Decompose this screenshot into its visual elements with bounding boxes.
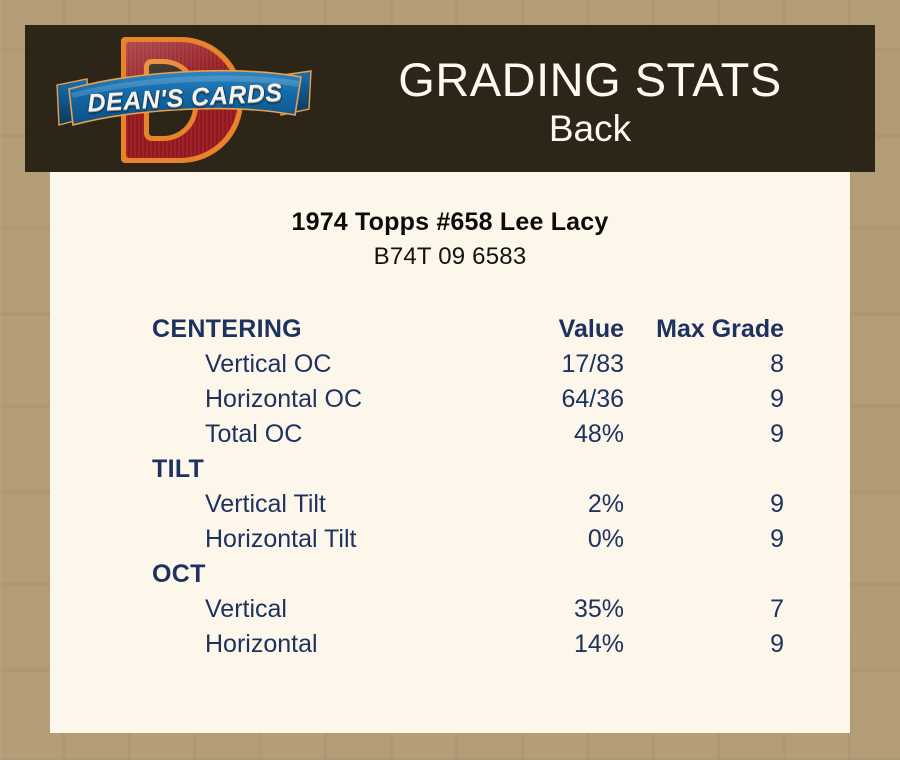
content-panel: 1974 Topps #658 Lee Lacy B74T 09 6583 CE… <box>50 172 850 733</box>
stats-section-header-row: TILT <box>152 452 812 487</box>
stats-row-max-grade: 9 <box>642 522 784 557</box>
logo-ribbon-icon: DEAN'S CARDS <box>55 67 315 129</box>
stats-data-row: Vertical Tilt2%9 <box>152 487 812 522</box>
stats-data-row: Total OC48%9 <box>152 417 812 452</box>
stats-data-row: Vertical35%7 <box>152 592 812 627</box>
page-title: GRADING STATS <box>325 56 855 103</box>
stats-row-label: Vertical <box>152 592 535 627</box>
stats-section-header-row: CENTERINGValueMax Grade <box>152 312 812 347</box>
grading-stats-page: DEAN'S CARDS GRADING STATS Back 1974 Top… <box>0 0 900 760</box>
stats-row-label: Horizontal OC <box>152 382 535 417</box>
stats-section-label: TILT <box>152 452 482 487</box>
stats-row-max-grade: 9 <box>642 487 784 522</box>
stats-row-max-grade: 9 <box>642 627 784 662</box>
stats-row-value: 35% <box>482 592 624 627</box>
stats-data-row: Horizontal OC64/369 <box>152 382 812 417</box>
stats-row-value: 2% <box>482 487 624 522</box>
stats-row-max-grade: 9 <box>642 382 784 417</box>
stats-row-label: Vertical Tilt <box>152 487 535 522</box>
stats-row-value: 64/36 <box>482 382 624 417</box>
stats-column-header-value: Value <box>482 312 624 347</box>
stats-section-label: CENTERING <box>152 312 482 347</box>
stats-data-row: Horizontal Tilt0%9 <box>152 522 812 557</box>
stats-section-label: OCT <box>152 557 482 592</box>
grading-stats-table: CENTERINGValueMax GradeVertical OC17/838… <box>152 312 812 662</box>
header-bar: DEAN'S CARDS GRADING STATS Back <box>25 25 875 172</box>
card-title: 1974 Topps #658 Lee Lacy <box>50 208 850 237</box>
stats-row-value: 17/83 <box>482 347 624 382</box>
deans-cards-logo[interactable]: DEAN'S CARDS <box>55 31 315 168</box>
stats-row-label: Vertical OC <box>152 347 535 382</box>
stats-row-max-grade: 8 <box>642 347 784 382</box>
page-subtitle: Back <box>325 110 855 147</box>
stats-row-label: Horizontal Tilt <box>152 522 535 557</box>
stats-data-row: Horizontal14%9 <box>152 627 812 662</box>
stats-row-value: 0% <box>482 522 624 557</box>
stats-row-value: 48% <box>482 417 624 452</box>
stats-row-value: 14% <box>482 627 624 662</box>
stats-row-label: Total OC <box>152 417 535 452</box>
stats-row-max-grade: 9 <box>642 417 784 452</box>
stats-row-max-grade: 7 <box>642 592 784 627</box>
stats-section-header-row: OCT <box>152 557 812 592</box>
card-id: B74T 09 6583 <box>50 243 850 271</box>
stats-data-row: Vertical OC17/838 <box>152 347 812 382</box>
stats-column-header-max-grade: Max Grade <box>642 312 784 347</box>
stats-row-label: Horizontal <box>152 627 535 662</box>
